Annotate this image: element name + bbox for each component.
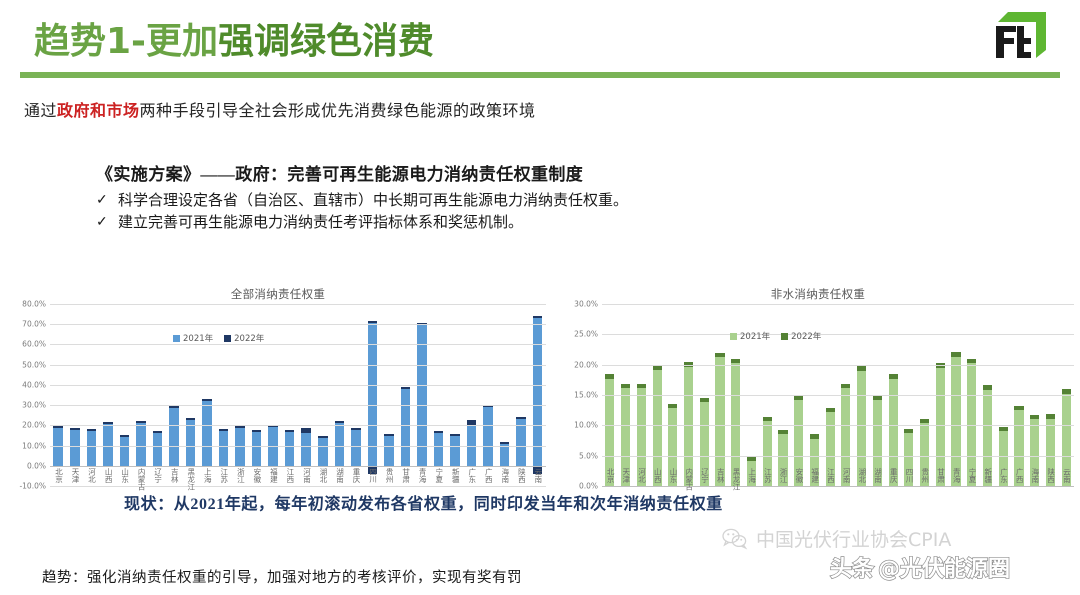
y-tick-label: 80.0% xyxy=(22,300,46,309)
bar-group xyxy=(149,304,166,486)
bar-group xyxy=(67,304,84,486)
x-tick: 甘肃 xyxy=(932,468,948,524)
x-tick-label: 新疆 xyxy=(983,468,991,524)
bar-group xyxy=(315,304,332,486)
bar-series-2022 xyxy=(70,428,80,430)
plot-area xyxy=(50,304,546,486)
x-tick-label: 宁夏 xyxy=(968,468,976,524)
policy-item-text: 建立完善可再生能源电力消纳责任考评指标体系和奖惩机制。 xyxy=(118,212,523,234)
bar-group xyxy=(100,304,117,486)
bar-series-2021 xyxy=(301,433,311,466)
bar-series-2021 xyxy=(53,428,63,465)
x-tick-label: 山西 xyxy=(104,468,112,524)
x-tick: 北京 xyxy=(50,468,67,524)
legend-item[interactable]: 2022年 xyxy=(224,332,264,344)
x-tick-label: 浙江 xyxy=(779,468,787,524)
bar-series-2022 xyxy=(904,429,913,433)
gridline xyxy=(602,425,1074,426)
bar-series-2021 xyxy=(285,432,295,465)
gridline xyxy=(602,304,1074,305)
bar-series-2022 xyxy=(136,421,146,423)
gridline xyxy=(50,324,546,325)
bar-series-2021 xyxy=(120,437,130,465)
gridline xyxy=(50,344,546,345)
bar-series-2021 xyxy=(533,318,543,466)
x-tick: 海南 xyxy=(1027,468,1043,524)
bar-group xyxy=(414,304,431,486)
x-tick-label: 河北 xyxy=(87,468,95,524)
title-divider xyxy=(20,72,1060,78)
bar-series-2021 xyxy=(136,423,146,465)
bar-series-2022 xyxy=(983,385,992,390)
bar-series-2022 xyxy=(384,434,394,436)
x-tick-label: 青海 xyxy=(952,468,960,524)
bar-series-2022 xyxy=(1046,414,1055,418)
legend-label: 2022年 xyxy=(234,332,264,344)
bar-series-2022 xyxy=(103,422,113,424)
y-tick-label: 60.0% xyxy=(22,340,46,349)
gridline xyxy=(50,365,546,366)
bar-series-2022 xyxy=(857,366,866,371)
bar-group xyxy=(447,304,464,486)
bar-group xyxy=(430,304,447,486)
legend-swatch-icon xyxy=(224,335,231,342)
chart-title: 非水消纳责任权重 xyxy=(560,286,1076,304)
x-tick-label: 广西 xyxy=(1015,468,1023,524)
bar-group xyxy=(381,304,398,486)
bar-series-2022 xyxy=(516,417,526,419)
y-tick-label: -10.0% xyxy=(19,482,46,491)
x-tick: 江西 xyxy=(822,468,838,524)
watermark-toutiao-prefix: 头条 xyxy=(830,551,874,583)
bar-series-2022 xyxy=(153,431,163,433)
bar-series-2022 xyxy=(668,404,677,408)
bar-group xyxy=(463,304,480,486)
bar-group xyxy=(298,304,315,486)
x-tick: 宁夏 xyxy=(964,468,980,524)
bar-group xyxy=(529,304,546,486)
legend-swatch-icon xyxy=(730,333,737,340)
page-title: 趋势1-更加强调绿色消费 xyxy=(34,12,434,64)
bar-group xyxy=(331,304,348,486)
bar-series-2021 xyxy=(219,431,229,466)
gridline xyxy=(50,385,546,386)
x-tick-label: 贵州 xyxy=(920,468,928,524)
y-tick-label: 20.0% xyxy=(574,360,598,369)
bar-series-2022 xyxy=(450,434,460,436)
policy-list-item: ✓ 科学合理设定各省（自治区、直辖市）中长期可再生能源电力消纳责任权重。 xyxy=(96,190,628,212)
chart-all-consumption: 全部消纳责任权重 80.0%70.0%60.0%50.0%40.0%30.0%2… xyxy=(8,286,548,486)
x-tick-label: 重庆 xyxy=(889,468,897,524)
bar-series-2022 xyxy=(219,429,229,431)
bar-series-2022 xyxy=(1062,389,1071,394)
y-axis: 30.0%25.0%20.0%15.0%10.0%5.0%0.0% xyxy=(560,304,602,486)
bar-series-2022 xyxy=(747,457,756,461)
bar-series-2021 xyxy=(384,436,394,466)
bar-series-2022 xyxy=(715,353,724,358)
bar-series-2021 xyxy=(202,401,212,465)
bar-series-2022 xyxy=(826,408,835,412)
x-tick: 四川 xyxy=(901,468,917,524)
x-tick-label: 黑龙江 xyxy=(732,468,740,524)
x-tick: 福建 xyxy=(807,468,823,524)
bar-series-2022 xyxy=(351,428,361,430)
bar-group xyxy=(265,304,282,486)
policy-block: 《实施方案》——政府：完善可再生能源电力消纳责任权重制度 ✓ 科学合理设定各省（… xyxy=(96,160,628,234)
x-tick: 上海 xyxy=(744,468,760,524)
plot-area xyxy=(602,304,1074,486)
policy-list-item: ✓ 建立完善可再生能源电力消纳责任考评指标体系和奖惩机制。 xyxy=(96,212,628,234)
bar-series-2021 xyxy=(351,430,361,466)
bar-series-2022 xyxy=(967,359,976,364)
page-title-strong: 强调绿色消费 xyxy=(218,21,434,62)
x-tick: 青海 xyxy=(948,468,964,524)
bar-series-2021 xyxy=(186,420,196,466)
bar-series-2022 xyxy=(53,426,63,428)
bar-series-2022 xyxy=(401,387,411,389)
bar-series-2022 xyxy=(700,398,709,402)
x-tick: 河南 xyxy=(838,468,854,524)
y-tick-label: 10.0% xyxy=(574,421,598,430)
x-tick-label: 云南 xyxy=(1062,468,1070,524)
bar-series-2022 xyxy=(533,316,543,318)
bar-series-2022 xyxy=(1030,415,1039,419)
bar-series-2021 xyxy=(70,430,80,465)
bar-group xyxy=(281,304,298,486)
x-tick-label: 陕西 xyxy=(1046,468,1054,524)
bar-series-2022 xyxy=(87,429,97,431)
bar-series-2022 xyxy=(335,421,345,423)
y-tick-label: 30.0% xyxy=(574,300,598,309)
wechat-icon xyxy=(722,528,748,550)
x-tick-label: 天津 xyxy=(71,468,79,524)
chart-legend: 2021年2022年 xyxy=(730,330,821,342)
chart-legend: 2021年2022年 xyxy=(173,332,264,344)
bar-series-2021 xyxy=(434,433,444,465)
check-icon: ✓ xyxy=(96,190,109,212)
bar-series-2021 xyxy=(715,357,724,486)
y-tick-label: 15.0% xyxy=(574,391,598,400)
bar-series-2021 xyxy=(483,407,493,466)
x-tick-label: 上海 xyxy=(747,468,755,524)
bar-series-2022 xyxy=(653,365,662,370)
x-tick-label: 广东 xyxy=(999,468,1007,524)
watermark-cpia-text: 中国光伏行业协会CPIA xyxy=(756,525,951,552)
y-tick-label: 25.0% xyxy=(574,330,598,339)
bar-series-2022 xyxy=(920,419,929,423)
x-tick: 重庆 xyxy=(885,468,901,524)
y-tick-label: 10.0% xyxy=(22,441,46,450)
bar-series-2022 xyxy=(368,321,378,323)
bar-series-2021 xyxy=(169,408,179,466)
bar-series-2022 xyxy=(763,417,772,421)
bar-series-2022 xyxy=(318,436,328,438)
bar-series-2022 xyxy=(637,384,646,388)
bar-group xyxy=(397,304,414,486)
x-tick-label: 北京 xyxy=(54,468,62,524)
y-tick-label: 5.0% xyxy=(579,451,598,460)
bar-group xyxy=(364,304,381,486)
subtitle: 通过政府和市场两种手段引导全社会形成优先消费绿色能源的政策环境 xyxy=(24,97,536,121)
gridline xyxy=(602,456,1074,457)
x-tick: 河北 xyxy=(83,468,100,524)
x-tick-label: 江苏 xyxy=(763,468,771,524)
bar-group xyxy=(50,304,67,486)
bar-series-2021 xyxy=(500,444,510,466)
watermark-toutiao: 头条 @光伏能源圈 xyxy=(830,551,1010,583)
x-tick: 湖南 xyxy=(869,468,885,524)
bar-series-2022 xyxy=(285,430,295,432)
bar-group xyxy=(116,304,133,486)
x-tick: 江苏 xyxy=(759,468,775,524)
gridline xyxy=(50,446,546,447)
x-tick-label: 江西 xyxy=(826,468,834,524)
legend-swatch-icon xyxy=(173,335,180,342)
y-tick-label: 40.0% xyxy=(22,380,46,389)
bar-series-2021 xyxy=(951,357,960,486)
cpia-logo-icon xyxy=(984,8,1058,68)
bar-series-2022 xyxy=(810,434,819,438)
y-tick-label: 20.0% xyxy=(22,421,46,430)
x-tick: 广西 xyxy=(1011,468,1027,524)
gridline xyxy=(602,395,1074,396)
zero-axis-line xyxy=(50,466,546,467)
y-axis: 80.0%70.0%60.0%50.0%40.0%30.0%20.0%10.0%… xyxy=(8,304,50,486)
bar-group xyxy=(83,304,100,486)
bar-series-2021 xyxy=(318,438,328,466)
bar-series-2022 xyxy=(841,384,850,388)
watermark-cpia: 中国光伏行业协会CPIA xyxy=(722,525,951,552)
legend-label: 2022年 xyxy=(791,330,821,342)
x-tick-label: 湖北 xyxy=(857,468,865,524)
policy-heading: 《实施方案》——政府：完善可再生能源电力消纳责任权重制度 xyxy=(96,160,628,185)
x-tick: 新疆 xyxy=(980,468,996,524)
chart-title: 全部消纳责任权重 xyxy=(8,286,548,304)
bar-series-2022 xyxy=(778,430,787,434)
bar-series-2022 xyxy=(252,430,262,432)
bar-group xyxy=(496,304,513,486)
legend-item[interactable]: 2021年 xyxy=(730,330,770,342)
y-tick-label: 50.0% xyxy=(22,360,46,369)
bar-series-2021 xyxy=(450,436,460,465)
legend-swatch-icon xyxy=(781,333,788,340)
x-tick-label: 湖南 xyxy=(873,468,881,524)
bar-series-2022 xyxy=(999,427,1008,431)
gridline xyxy=(602,365,1074,366)
legend-item[interactable]: 2022年 xyxy=(781,330,821,342)
x-tick-label: 甘肃 xyxy=(936,468,944,524)
bar-series-2022 xyxy=(500,442,510,444)
bar-series-2022 xyxy=(951,352,960,357)
trend-statement: 趋势：强化消纳责任权重的引导，加强对地方的考核评价，实现有奖有罚 xyxy=(42,566,522,587)
check-icon: ✓ xyxy=(96,212,109,234)
y-tick-label: 0.0% xyxy=(27,461,46,470)
x-tick: 浙江 xyxy=(775,468,791,524)
policy-item-text: 科学合理设定各省（自治区、直辖市）中长期可再生能源电力消纳责任权重。 xyxy=(118,190,628,212)
gridline xyxy=(50,425,546,426)
subtitle-highlight: 政府和市场 xyxy=(57,103,140,120)
x-tick: 贵州 xyxy=(917,468,933,524)
x-tick: 陕西 xyxy=(1043,468,1059,524)
bar-series-2022 xyxy=(120,435,130,437)
subtitle-post: 两种手段引导全社会形成优先消费绿色能源的政策环境 xyxy=(140,103,536,120)
legend-item[interactable]: 2021年 xyxy=(173,332,213,344)
subtitle-pre: 通过 xyxy=(24,103,57,120)
bar-series-2021 xyxy=(401,389,411,466)
x-tick: 黑龙江 xyxy=(728,468,744,524)
x-tick-label: 四川 xyxy=(905,468,913,524)
gridline xyxy=(602,334,1074,335)
legend-label: 2021年 xyxy=(183,332,213,344)
page-title-plain: 趋势1-更加 xyxy=(34,21,218,62)
bar-series-2021 xyxy=(335,423,345,465)
x-tick: 云南 xyxy=(1058,468,1074,524)
bar-group xyxy=(480,304,497,486)
chart-nonhydro-consumption: 非水消纳责任权重 30.0%25.0%20.0%15.0%10.0%5.0%0.… xyxy=(560,286,1076,486)
bar-series-2021 xyxy=(235,428,245,466)
x-tick-label: 海南 xyxy=(1030,468,1038,524)
x-tick-label: 福建 xyxy=(810,468,818,524)
bar-series-2022 xyxy=(301,428,311,433)
legend-label: 2021年 xyxy=(740,330,770,342)
x-tick: 广东 xyxy=(995,468,1011,524)
y-tick-label: 70.0% xyxy=(22,320,46,329)
bar-series-2022 xyxy=(889,374,898,379)
bar-series-2022 xyxy=(1014,406,1023,410)
bar-series-2022 xyxy=(621,384,630,388)
gridline xyxy=(50,304,546,305)
bar-series-2021 xyxy=(153,433,163,466)
bar-group xyxy=(513,304,530,486)
status-statement: 现状：从2021年起，每年初滚动发布各省权重，同时印发当年和次年消纳责任权重 xyxy=(124,490,723,514)
watermark-toutiao-handle: @光伏能源圈 xyxy=(878,551,1010,583)
bar-group xyxy=(348,304,365,486)
x-tick: 山西 xyxy=(100,468,117,524)
bar-series-2021 xyxy=(87,431,97,466)
y-tick-label: 30.0% xyxy=(22,401,46,410)
x-tick-label: 安徽 xyxy=(794,468,802,524)
bar-series-2022 xyxy=(186,418,196,420)
bar-series-2022 xyxy=(434,431,444,433)
x-tick: 天津 xyxy=(67,468,84,524)
bar-series-2021 xyxy=(252,432,262,466)
slide: 趋势1-更加强调绿色消费 通过政府和市场两种手段引导全社会形成优先消费绿色能源的… xyxy=(0,0,1080,595)
bar-series-2022 xyxy=(873,396,882,400)
bar-series-2022 xyxy=(731,359,740,364)
bar-series-2022 xyxy=(605,374,614,379)
bar-series-2022 xyxy=(202,399,212,401)
x-tick: 湖北 xyxy=(854,468,870,524)
bar-group xyxy=(133,304,150,486)
gridline xyxy=(50,405,546,406)
x-tick: 安徽 xyxy=(791,468,807,524)
x-tick-label: 河南 xyxy=(842,468,850,524)
